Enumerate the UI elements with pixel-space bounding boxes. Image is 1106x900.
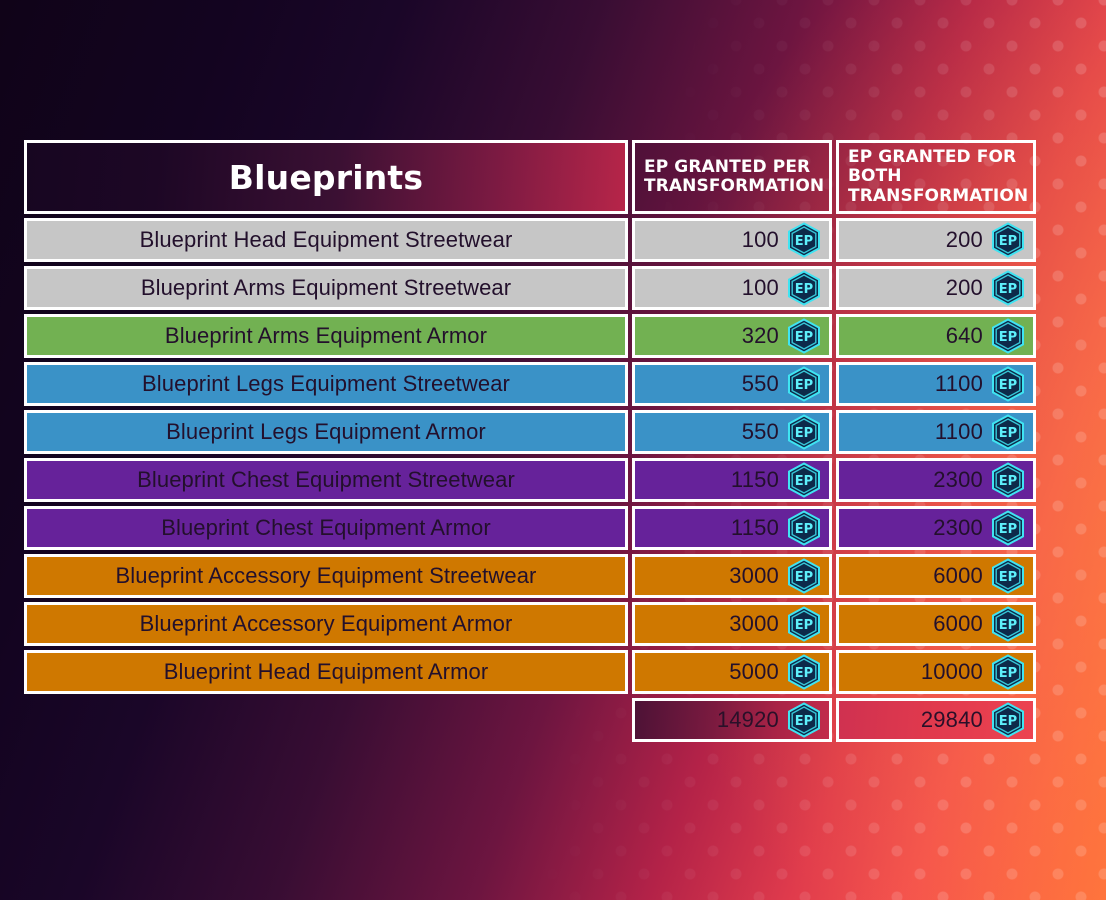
ep-icon: EP bbox=[991, 318, 1025, 354]
column-header-per-transformation: EP GRANTED PER TRANSFORMATION bbox=[632, 140, 832, 214]
row-both-value: 200 bbox=[946, 275, 983, 301]
svg-text:EP: EP bbox=[999, 426, 1017, 441]
total-both-cell: 29840 EP bbox=[836, 698, 1036, 742]
table-row: Blueprint Legs Equipment Streetwear550EP… bbox=[24, 362, 1036, 406]
ep-icon: EP bbox=[991, 510, 1025, 546]
table-row: Blueprint Head Equipment Armor5000EP1000… bbox=[24, 650, 1036, 694]
svg-text:EP: EP bbox=[795, 714, 813, 729]
row-name-label: Blueprint Chest Equipment Armor bbox=[161, 515, 491, 541]
row-per-value: 1150 bbox=[731, 467, 779, 493]
table-body: Blueprint Head Equipment Streetwear100EP… bbox=[24, 218, 1036, 694]
row-both-value: 6000 bbox=[933, 563, 983, 589]
row-both-value: 10000 bbox=[921, 659, 983, 685]
row-per-value: 3000 bbox=[729, 563, 779, 589]
ep-icon: EP bbox=[787, 366, 821, 402]
row-both-value: 1100 bbox=[935, 419, 983, 445]
table-row: Blueprint Arms Equipment Armor320EP640EP bbox=[24, 314, 1036, 358]
column-header-both-transformation: EP GRANTED FOR BOTH TRANSFORMATION bbox=[836, 140, 1036, 214]
row-name-label: Blueprint Accessory Equipment Armor bbox=[140, 611, 513, 637]
row-both-cell: 2300EP bbox=[836, 458, 1036, 502]
row-name-cell: Blueprint Legs Equipment Armor bbox=[24, 410, 628, 454]
row-name-label: Blueprint Arms Equipment Streetwear bbox=[141, 275, 511, 301]
row-name-label: Blueprint Arms Equipment Armor bbox=[165, 323, 487, 349]
row-both-cell: 2300EP bbox=[836, 506, 1036, 550]
svg-text:EP: EP bbox=[795, 378, 813, 393]
column-header-both-label: EP GRANTED FOR BOTH TRANSFORMATION bbox=[848, 148, 1028, 205]
total-per-cell: 14920 EP bbox=[632, 698, 832, 742]
ep-icon: EP bbox=[991, 654, 1025, 690]
row-both-cell: 6000EP bbox=[836, 602, 1036, 646]
ep-icon: EP bbox=[787, 222, 821, 258]
table-grid: Blueprints EP GRANTED PER TRANSFORMATION… bbox=[24, 140, 1036, 742]
table-title-cell: Blueprints bbox=[24, 140, 628, 214]
row-per-value: 550 bbox=[742, 419, 779, 445]
row-both-cell: 6000EP bbox=[836, 554, 1036, 598]
row-per-cell: 3000EP bbox=[632, 602, 832, 646]
ep-icon: EP bbox=[787, 558, 821, 594]
row-name-cell: Blueprint Arms Equipment Armor bbox=[24, 314, 628, 358]
ep-icon: EP bbox=[991, 558, 1025, 594]
ep-icon: EP bbox=[991, 606, 1025, 642]
row-per-cell: 550EP bbox=[632, 410, 832, 454]
ep-icon: EP bbox=[991, 702, 1025, 738]
row-per-cell: 3000EP bbox=[632, 554, 832, 598]
row-per-cell: 1150EP bbox=[632, 506, 832, 550]
row-both-value: 1100 bbox=[935, 371, 983, 397]
total-both-value: 29840 bbox=[921, 707, 983, 733]
row-per-value: 5000 bbox=[729, 659, 779, 685]
svg-text:EP: EP bbox=[999, 714, 1017, 729]
row-name-label: Blueprint Head Equipment Armor bbox=[164, 659, 489, 685]
total-row-spacer bbox=[24, 698, 628, 742]
page-title: Blueprints bbox=[229, 158, 423, 197]
row-per-cell: 5000EP bbox=[632, 650, 832, 694]
svg-text:EP: EP bbox=[999, 234, 1017, 249]
svg-text:EP: EP bbox=[795, 522, 813, 537]
table-row: Blueprint Arms Equipment Streetwear100EP… bbox=[24, 266, 1036, 310]
column-header-per-label: EP GRANTED PER TRANSFORMATION bbox=[644, 158, 824, 196]
svg-text:EP: EP bbox=[795, 666, 813, 681]
row-per-cell: 320EP bbox=[632, 314, 832, 358]
svg-text:EP: EP bbox=[795, 330, 813, 345]
ep-icon: EP bbox=[787, 318, 821, 354]
svg-text:EP: EP bbox=[999, 618, 1017, 633]
table-row: Blueprint Accessory Equipment Armor3000E… bbox=[24, 602, 1036, 646]
row-per-cell: 1150EP bbox=[632, 458, 832, 502]
row-per-value: 1150 bbox=[731, 515, 779, 541]
row-name-cell: Blueprint Arms Equipment Streetwear bbox=[24, 266, 628, 310]
svg-text:EP: EP bbox=[795, 282, 813, 297]
svg-text:EP: EP bbox=[999, 522, 1017, 537]
ep-icon: EP bbox=[787, 510, 821, 546]
table-row: Blueprint Chest Equipment Streetwear1150… bbox=[24, 458, 1036, 502]
row-both-cell: 10000EP bbox=[836, 650, 1036, 694]
ep-icon: EP bbox=[991, 462, 1025, 498]
row-name-cell: Blueprint Chest Equipment Armor bbox=[24, 506, 628, 550]
total-per-value: 14920 bbox=[717, 707, 779, 733]
table-row: Blueprint Chest Equipment Armor1150EP230… bbox=[24, 506, 1036, 550]
row-both-cell: 200EP bbox=[836, 218, 1036, 262]
svg-text:EP: EP bbox=[795, 618, 813, 633]
row-both-value: 200 bbox=[946, 227, 983, 253]
row-both-value: 640 bbox=[946, 323, 983, 349]
row-per-value: 550 bbox=[742, 371, 779, 397]
row-name-cell: Blueprint Head Equipment Streetwear bbox=[24, 218, 628, 262]
ep-icon: EP bbox=[787, 414, 821, 450]
svg-text:EP: EP bbox=[999, 666, 1017, 681]
svg-text:EP: EP bbox=[999, 474, 1017, 489]
ep-icon: EP bbox=[787, 654, 821, 690]
screen-background: Blueprints EP GRANTED PER TRANSFORMATION… bbox=[0, 0, 1106, 900]
row-name-cell: Blueprint Accessory Equipment Armor bbox=[24, 602, 628, 646]
row-both-value: 2300 bbox=[933, 467, 983, 493]
ep-icon: EP bbox=[991, 414, 1025, 450]
svg-text:EP: EP bbox=[795, 570, 813, 585]
table-total-row: 14920 EP 29840 EP bbox=[24, 698, 1036, 742]
svg-text:EP: EP bbox=[999, 570, 1017, 585]
row-per-cell: 100EP bbox=[632, 218, 832, 262]
ep-icon: EP bbox=[787, 270, 821, 306]
row-both-cell: 200EP bbox=[836, 266, 1036, 310]
row-name-cell: Blueprint Legs Equipment Streetwear bbox=[24, 362, 628, 406]
table-header-row: Blueprints EP GRANTED PER TRANSFORMATION… bbox=[24, 140, 1036, 214]
ep-icon: EP bbox=[991, 270, 1025, 306]
row-per-value: 320 bbox=[742, 323, 779, 349]
row-both-value: 2300 bbox=[933, 515, 983, 541]
svg-text:EP: EP bbox=[999, 282, 1017, 297]
row-both-cell: 1100EP bbox=[836, 362, 1036, 406]
table-row: Blueprint Accessory Equipment Streetwear… bbox=[24, 554, 1036, 598]
row-name-label: Blueprint Legs Equipment Streetwear bbox=[142, 371, 510, 397]
svg-text:EP: EP bbox=[795, 474, 813, 489]
row-per-cell: 100EP bbox=[632, 266, 832, 310]
ep-icon: EP bbox=[787, 462, 821, 498]
svg-text:EP: EP bbox=[795, 234, 813, 249]
table-row: Blueprint Legs Equipment Armor550EP1100E… bbox=[24, 410, 1036, 454]
row-per-value: 100 bbox=[742, 275, 779, 301]
row-per-value: 100 bbox=[742, 227, 779, 253]
row-name-cell: Blueprint Accessory Equipment Streetwear bbox=[24, 554, 628, 598]
row-name-cell: Blueprint Chest Equipment Streetwear bbox=[24, 458, 628, 502]
ep-icon: EP bbox=[991, 366, 1025, 402]
row-both-cell: 640EP bbox=[836, 314, 1036, 358]
row-per-cell: 550EP bbox=[632, 362, 832, 406]
row-name-label: Blueprint Chest Equipment Streetwear bbox=[137, 467, 515, 493]
svg-text:EP: EP bbox=[999, 378, 1017, 393]
row-name-cell: Blueprint Head Equipment Armor bbox=[24, 650, 628, 694]
row-both-value: 6000 bbox=[933, 611, 983, 637]
row-name-label: Blueprint Accessory Equipment Streetwear bbox=[116, 563, 537, 589]
row-per-value: 3000 bbox=[729, 611, 779, 637]
svg-text:EP: EP bbox=[795, 426, 813, 441]
ep-icon: EP bbox=[991, 222, 1025, 258]
row-both-cell: 1100EP bbox=[836, 410, 1036, 454]
blueprints-table: Blueprints EP GRANTED PER TRANSFORMATION… bbox=[24, 140, 1036, 742]
svg-text:EP: EP bbox=[999, 330, 1017, 345]
row-name-label: Blueprint Head Equipment Streetwear bbox=[140, 227, 513, 253]
table-row: Blueprint Head Equipment Streetwear100EP… bbox=[24, 218, 1036, 262]
row-name-label: Blueprint Legs Equipment Armor bbox=[166, 419, 486, 445]
ep-icon: EP bbox=[787, 702, 821, 738]
ep-icon: EP bbox=[787, 606, 821, 642]
